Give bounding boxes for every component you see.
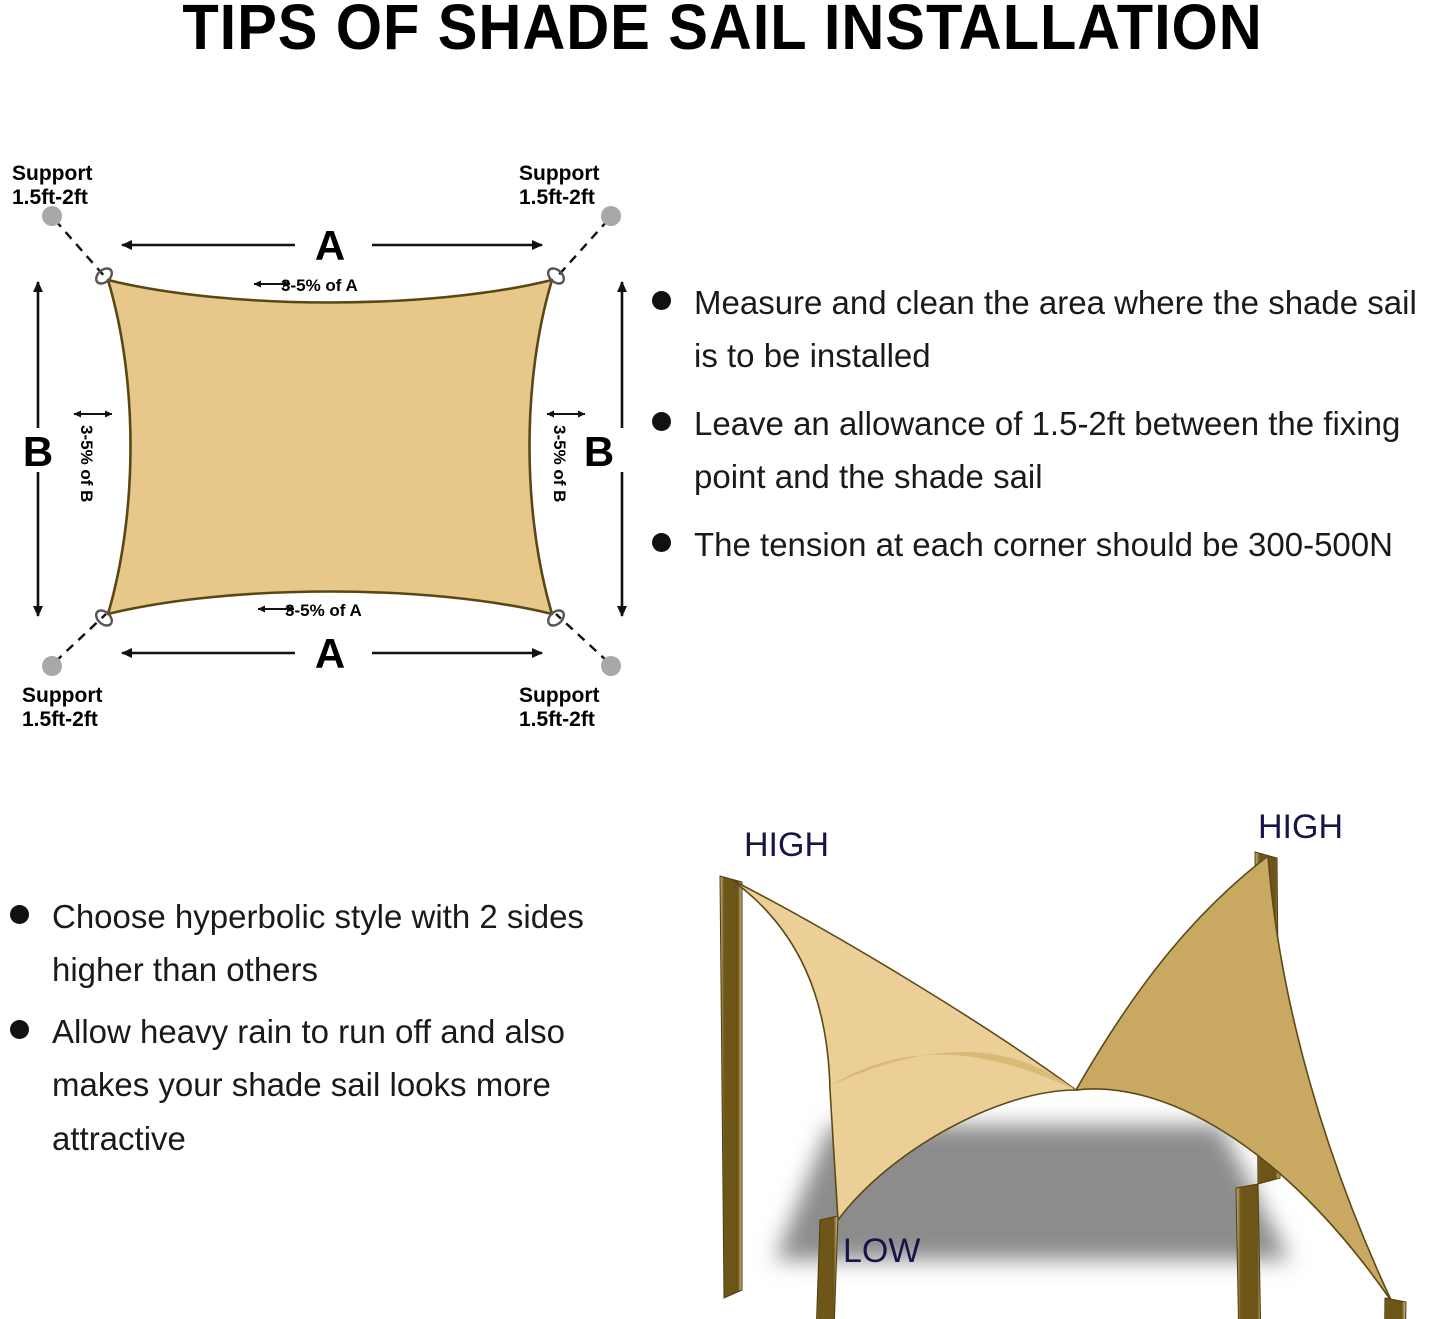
support-dot-top-left	[42, 206, 62, 226]
support-top-left-group: Support 1.5ft-2ft	[12, 162, 106, 278]
tip-text: Choose hyperbolic style with 2 sides hig…	[52, 898, 584, 988]
bullet-icon	[652, 412, 671, 431]
support-dot-bottom-left	[42, 656, 62, 676]
curve-label-right: 3-5% of B	[550, 425, 569, 502]
support-label-top-left: Support	[12, 162, 92, 185]
support-label-bottom-left-2: 1.5ft-2ft	[22, 708, 98, 731]
dimension-b-left: B	[23, 282, 53, 616]
bullet-icon	[652, 533, 671, 552]
curve-callout-top: 3-5% of A	[254, 276, 358, 295]
dim-letter-b-left: B	[23, 428, 53, 475]
tip-text: Leave an allowance of 1.5-2ft between th…	[694, 405, 1400, 495]
list-item: Choose hyperbolic style with 2 sides hig…	[6, 890, 626, 997]
shade-sail-shape	[108, 280, 552, 614]
hyperbolic-sail-diagram: HIGH HIGH LOW LOW	[680, 790, 1445, 1319]
support-label-bottom-left: Support	[22, 684, 102, 707]
label-high-right: HIGH	[1258, 808, 1343, 846]
tips-list-right: Measure and clean the area where the sha…	[648, 276, 1445, 585]
list-item: Leave an allowance of 1.5-2ft between th…	[648, 397, 1445, 504]
support-label-bottom-right-2: 1.5ft-2ft	[519, 708, 595, 731]
dimension-a-top: A	[122, 222, 542, 269]
bullet-icon	[10, 905, 29, 924]
post-mid-right	[1236, 1184, 1262, 1319]
list-item: The tension at each corner should be 300…	[648, 518, 1445, 571]
post-front-right	[1382, 1298, 1406, 1319]
tip-text: The tension at each corner should be 300…	[694, 526, 1393, 563]
dim-letter-a-bottom: A	[315, 630, 345, 677]
post-back-left	[720, 876, 742, 1298]
curve-label-top: 3-5% of A	[281, 276, 358, 295]
list-item: Measure and clean the area where the sha…	[648, 276, 1445, 383]
curve-callout-left: 3-5% of B	[74, 414, 112, 502]
support-label-top-left-2: 1.5ft-2ft	[12, 186, 88, 209]
bullet-icon	[10, 1020, 29, 1039]
support-label-bottom-right: Support	[519, 684, 599, 707]
dimension-b-right: B	[584, 282, 622, 616]
label-low-front-left: LOW	[843, 1232, 920, 1270]
dimension-a-bottom: A	[122, 630, 542, 677]
list-item: Allow heavy rain to run off and also mak…	[6, 1005, 626, 1165]
curve-label-left: 3-5% of B	[77, 425, 96, 502]
dim-letter-b-right: B	[584, 428, 614, 475]
support-label-top-right: Support	[519, 162, 599, 185]
curve-callout-bottom: 3-5% of A	[258, 601, 362, 620]
support-dot-bottom-right	[601, 656, 621, 676]
rect-sail-diagram: Support 1.5ft-2ft Support 1.5ft-2ft Supp…	[0, 150, 660, 750]
support-label-top-right-2: 1.5ft-2ft	[519, 186, 595, 209]
support-dot-top-right	[601, 206, 621, 226]
support-top-right-group: Support 1.5ft-2ft	[519, 162, 621, 278]
dim-letter-a-top: A	[315, 222, 345, 269]
label-high-left: HIGH	[744, 826, 829, 864]
tip-text: Measure and clean the area where the sha…	[694, 284, 1417, 374]
page-title: TIPS OF SHADE SAIL INSTALLATION	[51, 0, 1395, 61]
curve-label-bottom: 3-5% of A	[285, 601, 362, 620]
bullet-icon	[652, 291, 671, 310]
support-bottom-right-group: Support 1.5ft-2ft	[519, 614, 621, 731]
tips-list-bottom: Choose hyperbolic style with 2 sides hig…	[6, 890, 626, 1173]
support-bottom-left-group: Support 1.5ft-2ft	[22, 614, 106, 731]
tip-text: Allow heavy rain to run off and also mak…	[52, 1013, 565, 1157]
curve-callout-right: 3-5% of B	[547, 414, 585, 502]
